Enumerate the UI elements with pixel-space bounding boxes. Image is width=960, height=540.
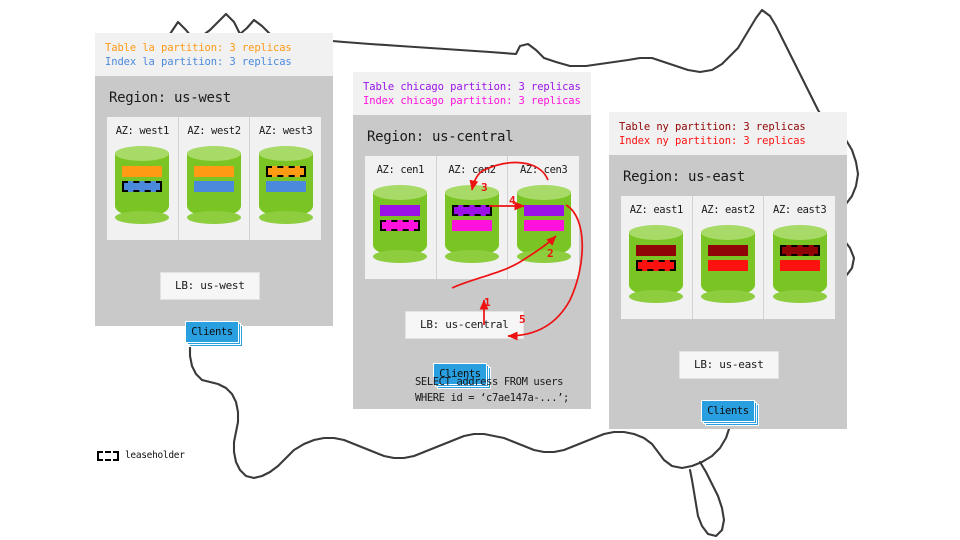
- az-row-us-central: AZ: cen1 AZ: cen2: [365, 156, 579, 279]
- az-label: AZ: west3: [254, 125, 317, 137]
- cylinder-bottom: [773, 290, 827, 303]
- replica-bar-table: [708, 245, 748, 256]
- replica-bar-index: [780, 260, 820, 271]
- replica-bar-index-leaseholder: [380, 220, 420, 231]
- region-panel-us-east: Table ny partition: 3 replicas Index ny …: [609, 112, 847, 429]
- load-balancer-us-west[interactable]: LB: us-west: [160, 272, 260, 300]
- partition-info-table: Table la partition: 3 replicas: [105, 41, 323, 55]
- partition-info-table: Table chicago partition: 3 replicas: [363, 80, 581, 94]
- replica-bars: [780, 245, 820, 275]
- az-label: AZ: west2: [183, 125, 246, 137]
- clients-stack-us-east[interactable]: Clients: [701, 400, 759, 424]
- cylinder-bottom: [373, 250, 427, 263]
- az-cell-cen1[interactable]: AZ: cen1: [365, 156, 436, 279]
- replica-bar-index: [708, 260, 748, 271]
- partition-info-index: Index la partition: 3 replicas: [105, 55, 323, 69]
- az-row-us-west: AZ: west1 AZ: west2: [107, 117, 321, 240]
- sql-line-1: SELECT address FROM users: [415, 375, 569, 391]
- arrow-number-1: 1: [484, 296, 490, 309]
- region-title: Region: us-west: [109, 90, 319, 106]
- leaseholder-swatch-icon: [97, 451, 119, 461]
- az-label: AZ: east1: [625, 204, 688, 216]
- az-cell-cen3[interactable]: AZ: cen3: [507, 156, 579, 279]
- az-cell-east2[interactable]: AZ: east2: [692, 196, 764, 319]
- legend-label: leaseholder: [125, 450, 185, 461]
- sql-query-caption: SELECT address FROM users WHERE id = ‘c7…: [415, 375, 569, 407]
- database-cylinder-west3[interactable]: [259, 146, 313, 224]
- replica-bar-table: [524, 205, 564, 216]
- replica-bars: [452, 205, 492, 235]
- region-panel-us-central: Table chicago partition: 3 replicas Inde…: [353, 72, 591, 409]
- replica-bar-table: [380, 205, 420, 216]
- replica-bar-index: [524, 220, 564, 231]
- database-cylinder-cen3[interactable]: [517, 185, 571, 263]
- arrow-number-4: 4: [509, 194, 515, 207]
- cylinder-bottom: [187, 211, 241, 224]
- region-header-us-central: Table chicago partition: 3 replicas Inde…: [353, 72, 591, 115]
- az-label: AZ: west1: [111, 125, 174, 137]
- clients-stack-us-west[interactable]: Clients: [185, 321, 243, 345]
- replica-bar-table: [636, 245, 676, 256]
- cylinder-bottom: [629, 290, 683, 303]
- az-cell-west2[interactable]: AZ: west2: [178, 117, 250, 240]
- replica-bars: [194, 166, 234, 196]
- region-body-us-east: Region: us-east AZ: east1 AZ: [609, 155, 847, 429]
- replica-bar-table-leaseholder: [266, 166, 306, 177]
- cylinder-bottom: [517, 250, 571, 263]
- region-body-us-central: Region: us-central AZ: cen1: [353, 115, 591, 409]
- arrow-number-5: 5: [519, 313, 525, 326]
- database-cylinder-cen2[interactable]: [445, 185, 499, 263]
- database-cylinder-east1[interactable]: [629, 225, 683, 303]
- replica-bar-table-leaseholder: [780, 245, 820, 256]
- clients-label: Clients: [701, 400, 755, 422]
- replica-bars: [636, 245, 676, 275]
- region-title: Region: us-central: [367, 129, 577, 145]
- load-balancer-us-central[interactable]: LB: us-central: [405, 311, 524, 339]
- az-cell-east1[interactable]: AZ: east1: [621, 196, 692, 319]
- legend: leaseholder: [97, 450, 185, 461]
- arrow-number-2: 2: [547, 247, 553, 260]
- az-label: AZ: cen3: [512, 164, 575, 176]
- az-label: AZ: cen2: [441, 164, 504, 176]
- region-panel-us-west: Table la partition: 3 replicas Index la …: [95, 33, 333, 326]
- cylinder-bottom: [701, 290, 755, 303]
- sql-line-2: WHERE id = ‘c7ae147a-...’;: [415, 391, 569, 407]
- az-cell-cen2[interactable]: AZ: cen2: [436, 156, 508, 279]
- region-title: Region: us-east: [623, 169, 833, 185]
- database-cylinder-east2[interactable]: [701, 225, 755, 303]
- database-cylinder-east3[interactable]: [773, 225, 827, 303]
- replica-bar-table-leaseholder: [452, 205, 492, 216]
- az-label: AZ: cen1: [369, 164, 432, 176]
- partition-info-index: Index ny partition: 3 replicas: [619, 134, 837, 148]
- diagram-canvas: Table la partition: 3 replicas Index la …: [0, 0, 960, 540]
- az-cell-west1[interactable]: AZ: west1: [107, 117, 178, 240]
- replica-bars: [266, 166, 306, 196]
- az-label: AZ: east2: [697, 204, 760, 216]
- region-body-us-west: Region: us-west AZ: west1: [95, 76, 333, 326]
- az-label: AZ: east3: [768, 204, 831, 216]
- region-header-us-east: Table ny partition: 3 replicas Index ny …: [609, 112, 847, 155]
- partition-info-index: Index chicago partition: 3 replicas: [363, 94, 581, 108]
- cylinder-bottom: [115, 211, 169, 224]
- database-cylinder-cen1[interactable]: [373, 185, 427, 263]
- az-cell-east3[interactable]: AZ: east3: [763, 196, 835, 319]
- replica-bars: [524, 205, 564, 235]
- load-balancer-us-east[interactable]: LB: us-east: [679, 351, 779, 379]
- arrow-number-3: 3: [481, 181, 487, 194]
- replica-bar-table: [122, 166, 162, 177]
- cylinder-bottom: [259, 211, 313, 224]
- replica-bars: [380, 205, 420, 235]
- replica-bar-index: [452, 220, 492, 231]
- replica-bar-index-leaseholder: [122, 181, 162, 192]
- region-header-us-west: Table la partition: 3 replicas Index la …: [95, 33, 333, 76]
- replica-bar-index: [194, 181, 234, 192]
- cylinder-bottom: [445, 250, 499, 263]
- partition-info-table: Table ny partition: 3 replicas: [619, 120, 837, 134]
- replica-bars: [708, 245, 748, 275]
- database-cylinder-west2[interactable]: [187, 146, 241, 224]
- clients-label: Clients: [185, 321, 239, 343]
- replica-bar-table: [194, 166, 234, 177]
- replica-bar-index: [266, 181, 306, 192]
- replica-bar-index-leaseholder: [636, 260, 676, 271]
- az-cell-west3[interactable]: AZ: west3: [249, 117, 321, 240]
- replica-bars: [122, 166, 162, 196]
- az-row-us-east: AZ: east1 AZ: east2: [621, 196, 835, 319]
- database-cylinder-west1[interactable]: [115, 146, 169, 224]
